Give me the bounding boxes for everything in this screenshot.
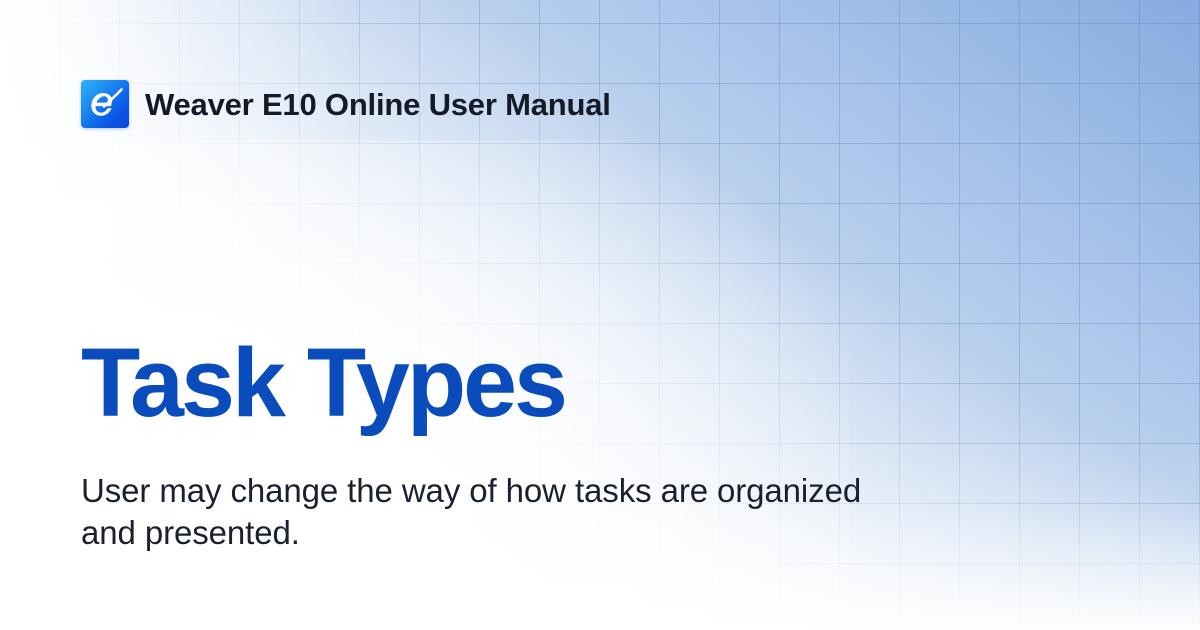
brand-title: Weaver E10 Online User Manual: [145, 89, 611, 120]
page-subtitle: User may change the way of how tasks are…: [81, 470, 871, 554]
weaver-e-logo-icon: [81, 80, 129, 128]
brand-header: Weaver E10 Online User Manual: [81, 80, 611, 128]
card-content: Weaver E10 Online User Manual Task Types…: [0, 0, 1200, 630]
og-card: Weaver E10 Online User Manual Task Types…: [0, 0, 1200, 630]
page-title: Task Types: [81, 334, 565, 431]
